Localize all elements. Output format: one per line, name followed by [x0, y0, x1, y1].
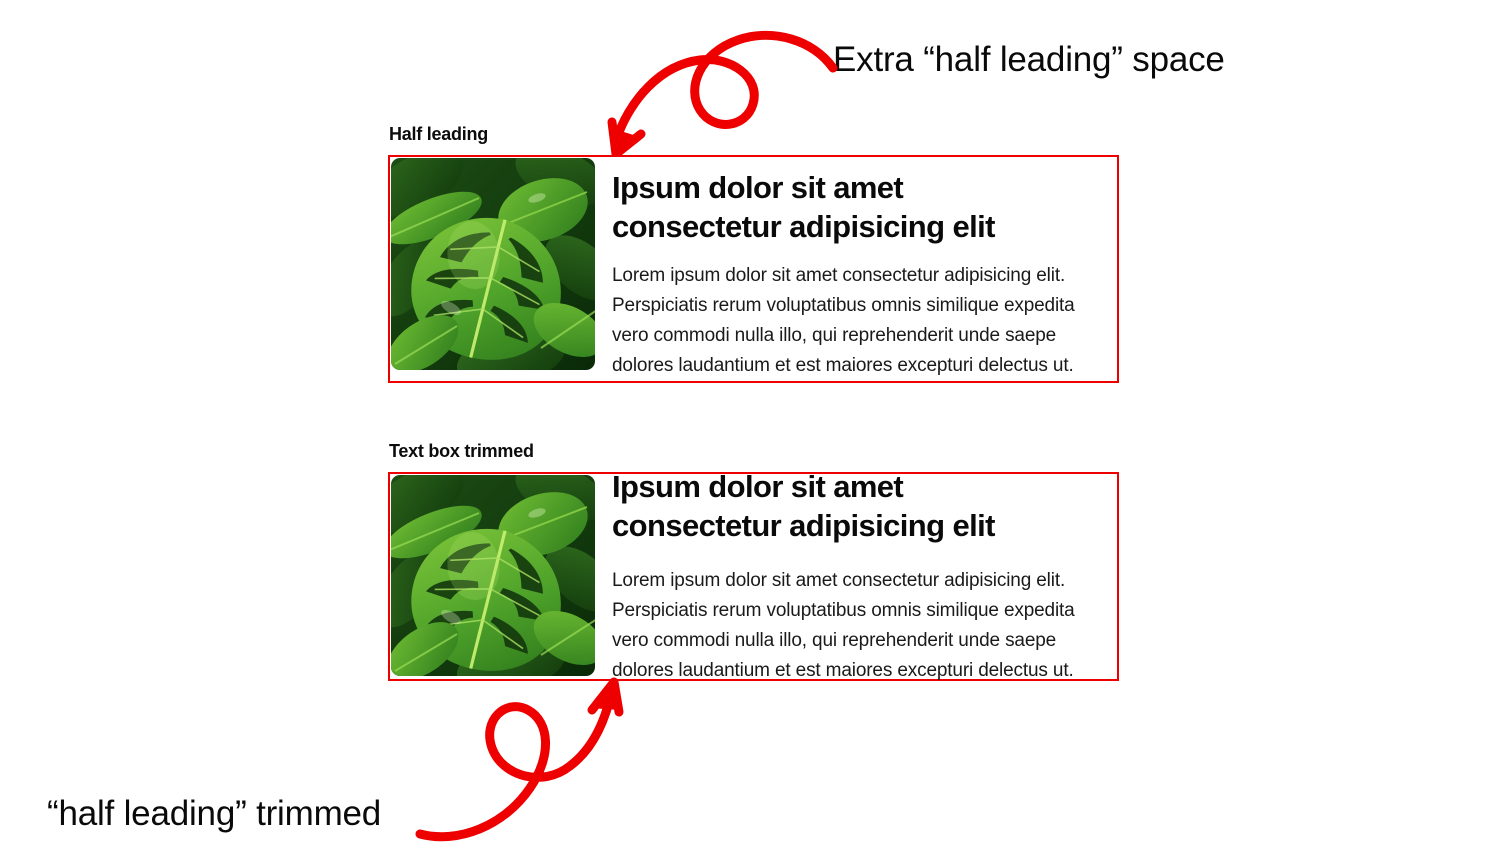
section-label-half-leading: Half leading — [389, 125, 1119, 145]
card-paragraph: Lorem ipsum dolor sit amet consectetur a… — [612, 261, 1107, 381]
card-heading: Ipsum dolor sit amet consectetur adipisi… — [612, 168, 1042, 246]
section-label-text-box-trimmed: Text box trimmed — [389, 442, 1119, 462]
section-text-box-trimmed: Text box trimmed — [388, 442, 1119, 681]
card-heading: Ipsum dolor sit amet consectetur adipisi… — [612, 467, 1042, 545]
card-image-text-box-trimmed — [391, 475, 595, 676]
diagram-canvas: Extra “half leading” space Half leading — [0, 0, 1507, 863]
annotation-label-half-leading-trimmed: “half leading” trimmed — [47, 794, 381, 834]
annotation-arrow-bottom-icon — [418, 676, 658, 846]
card-body-half-leading: Ipsum dolor sit amet consectetur adipisi… — [596, 157, 1117, 381]
card-text-box-trimmed: Ipsum dolor sit amet consectetur adipisi… — [388, 472, 1119, 681]
annotation-label-extra-half-leading: Extra “half leading” space — [833, 40, 1225, 80]
section-half-leading: Half leading — [388, 125, 1119, 383]
card-body-text-box-trimmed: Ipsum dolor sit amet consectetur adipisi… — [596, 474, 1117, 679]
monstera-leaves-photo — [391, 475, 595, 676]
monstera-leaves-photo — [391, 158, 595, 370]
card-image-half-leading — [391, 158, 595, 370]
card-paragraph: Lorem ipsum dolor sit amet consectetur a… — [612, 566, 1107, 686]
card-half-leading: Ipsum dolor sit amet consectetur adipisi… — [388, 155, 1119, 383]
